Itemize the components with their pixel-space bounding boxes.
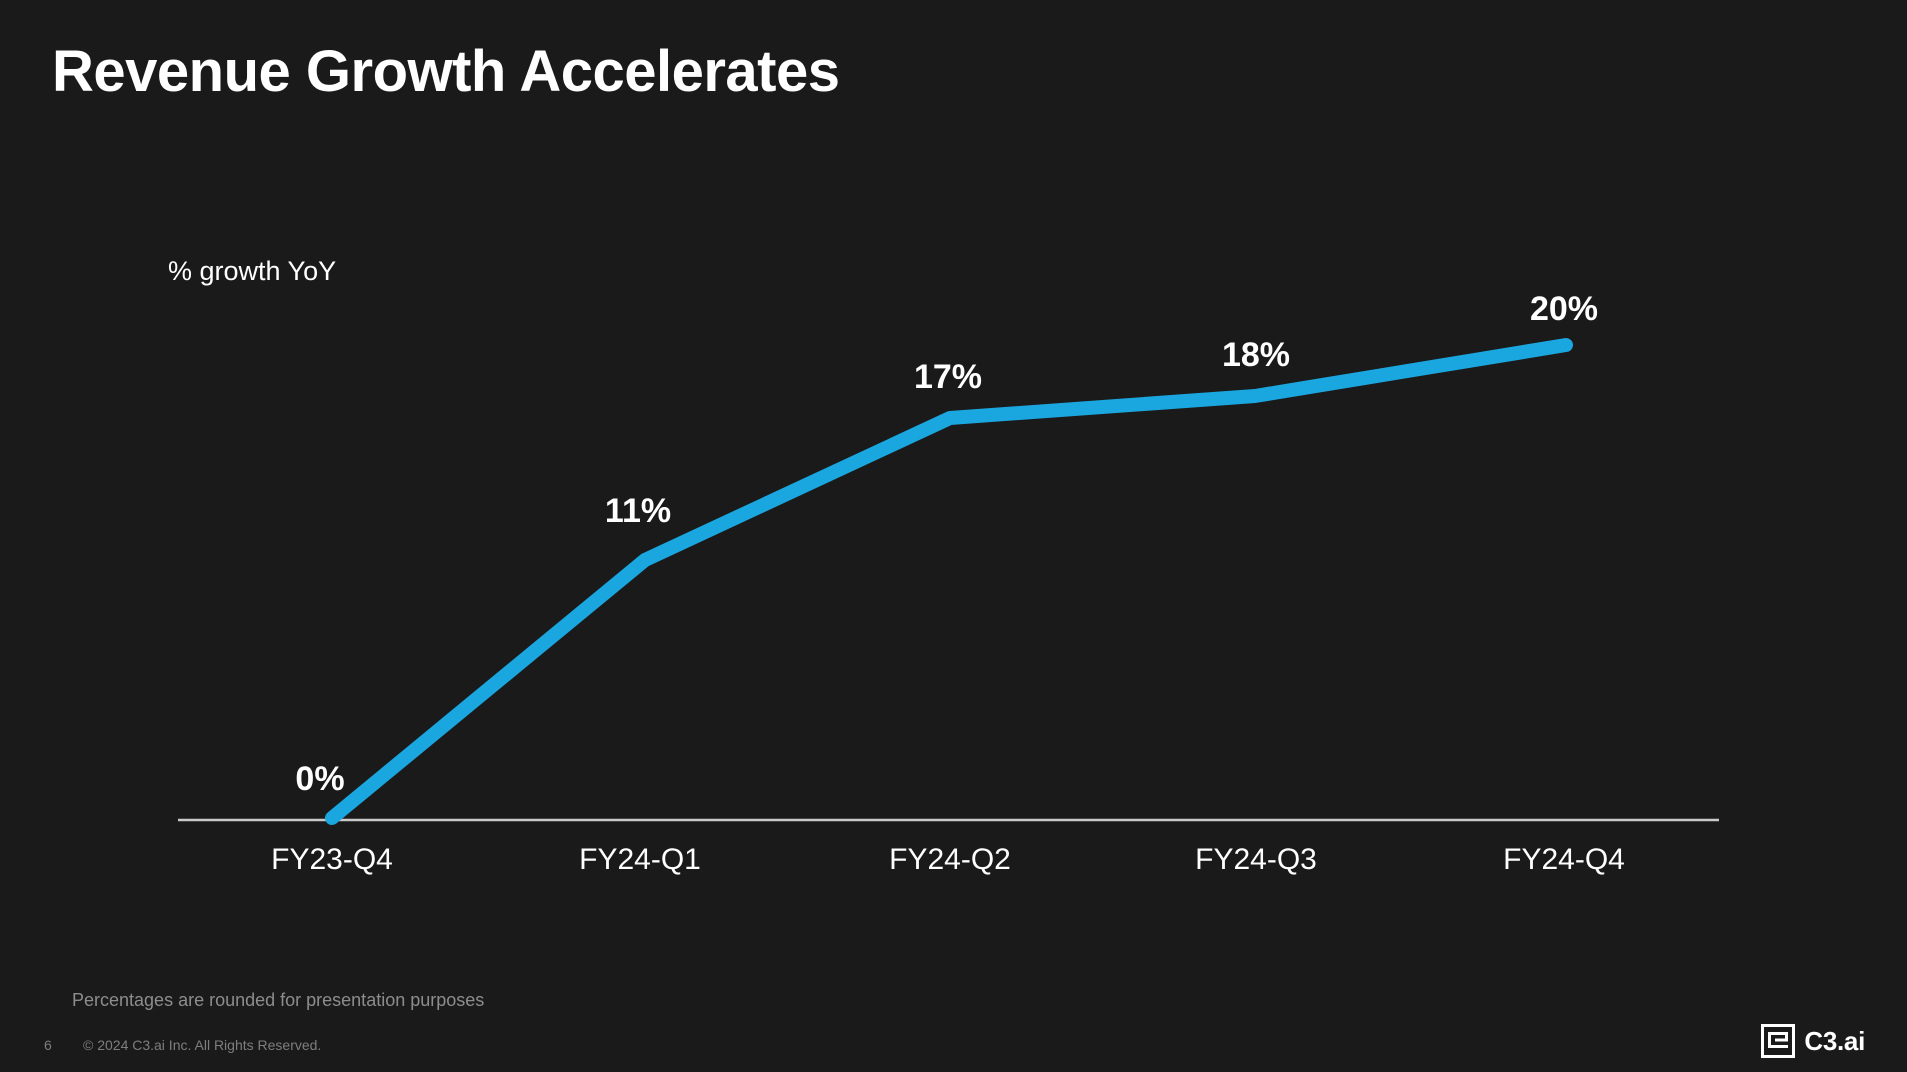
series-line-growth — [332, 345, 1566, 818]
data-label-fy24-q2: 17% — [914, 358, 982, 397]
x-tick-label-fy23-q4: FY23-Q4 — [271, 843, 393, 877]
line-chart: % growth YoY 0% 11% 17% 18% 20% FY23-Q4 … — [0, 0, 1907, 1072]
copyright-notice: © 2024 C3.ai Inc. All Rights Reserved. — [83, 1037, 321, 1053]
data-label-fy23-q4: 0% — [295, 760, 344, 799]
chart-plot-svg — [0, 0, 1907, 1072]
x-tick-label-fy24-q2: FY24-Q2 — [889, 843, 1011, 877]
x-tick-label-fy24-q4: FY24-Q4 — [1503, 843, 1625, 877]
slide-root: Revenue Growth Accelerates % growth YoY … — [0, 0, 1907, 1072]
x-tick-label-fy24-q3: FY24-Q3 — [1195, 843, 1317, 877]
page-number: 6 — [44, 1037, 52, 1053]
footnote: Percentages are rounded for presentation… — [72, 990, 484, 1011]
brand-wordmark: C3.ai — [1804, 1028, 1865, 1054]
data-label-fy24-q3: 18% — [1222, 336, 1290, 375]
x-tick-label-fy24-q1: FY24-Q1 — [579, 843, 701, 877]
data-label-fy24-q4: 20% — [1530, 290, 1598, 329]
data-label-fy24-q1: 11% — [605, 492, 671, 531]
c3-ai-logo-icon — [1761, 1024, 1795, 1058]
brand-logo: C3.ai — [1761, 1024, 1865, 1058]
